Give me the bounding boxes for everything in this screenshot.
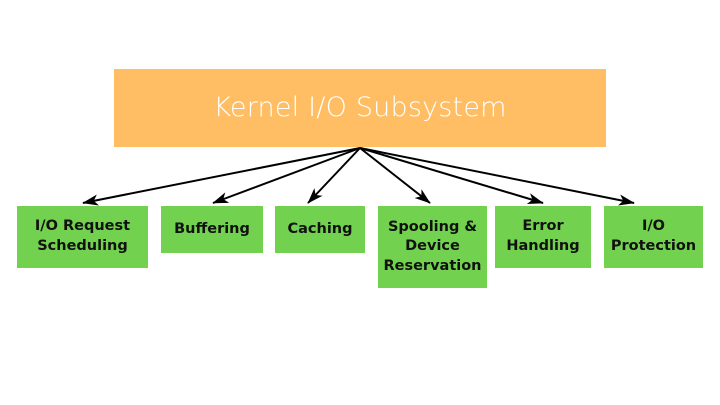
arrow-to-error-handling xyxy=(360,148,543,203)
arrow-to-buffering xyxy=(213,148,360,203)
arrow-to-spooling-device-reservation xyxy=(360,148,430,203)
node-io-protection[interactable]: I/O Protection xyxy=(604,206,703,268)
node-caching[interactable]: Caching xyxy=(275,206,365,253)
node-label: Spooling & Device Reservation xyxy=(378,218,487,277)
root-node-kernel-io-subsystem[interactable]: Kernel I/O Subsystem xyxy=(114,69,606,147)
connector-arrows xyxy=(0,0,720,405)
node-label: Caching xyxy=(282,220,357,240)
node-label: Error Handling xyxy=(495,217,591,256)
node-io-request-scheduling[interactable]: I/O Request Scheduling xyxy=(17,206,148,268)
node-label: Buffering xyxy=(169,220,255,240)
node-buffering[interactable]: Buffering xyxy=(161,206,263,253)
diagram-canvas: Kernel I/O Subsystem I/O Request Schedul… xyxy=(0,0,720,405)
node-label: I/O Protection xyxy=(604,217,703,256)
root-node-label: Kernel I/O Subsystem xyxy=(213,92,506,123)
arrow-to-io-protection xyxy=(360,148,634,203)
node-error-handling[interactable]: Error Handling xyxy=(495,206,591,268)
arrow-to-io-request-scheduling xyxy=(83,148,360,203)
node-spooling-device-reservation[interactable]: Spooling & Device Reservation xyxy=(378,206,487,288)
node-label: I/O Request Scheduling xyxy=(17,217,148,256)
arrow-to-caching xyxy=(308,148,360,203)
